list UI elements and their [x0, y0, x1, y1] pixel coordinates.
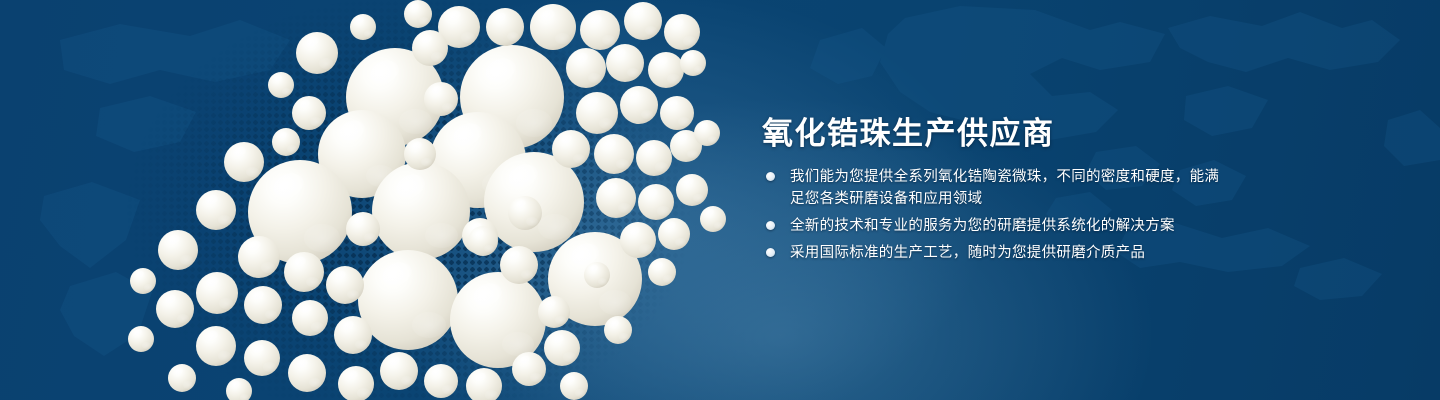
banner-copy: 氧化锆珠生产供应商 我们能为您提供全系列氧化锆陶瓷微珠，不同的密度和硬度，能满足…	[762, 0, 1322, 400]
filled-circle-bullet-icon	[766, 221, 775, 230]
page-title: 氧化锆珠生产供应商	[762, 108, 1055, 153]
list-item-label: 全新的技术和专业的服务为您的研磨提供系统化的解决方案	[790, 215, 1232, 237]
feature-list: 我们能为您提供全系列氧化锆陶瓷微珠，不同的密度和硬度，能满足您各类研磨设备和应用…	[762, 166, 1232, 269]
filled-circle-bullet-icon	[766, 172, 775, 181]
zirconia-beads-image	[0, 0, 760, 400]
list-item-label: 采用国际标准的生产工艺，随时为您提供研磨介质产品	[790, 242, 1232, 264]
hero-banner: 氧化锆珠生产供应商 我们能为您提供全系列氧化锆陶瓷微珠，不同的密度和硬度，能满足…	[0, 0, 1440, 400]
halftone-dot-pattern	[70, 0, 690, 400]
list-item-label: 我们能为您提供全系列氧化锆陶瓷微珠，不同的密度和硬度，能满足您各类研磨设备和应用…	[790, 166, 1232, 210]
filled-circle-bullet-icon	[766, 248, 775, 257]
list-item: 全新的技术和专业的服务为您的研磨提供系统化的解决方案	[762, 215, 1232, 237]
list-item: 我们能为您提供全系列氧化锆陶瓷微珠，不同的密度和硬度，能满足您各类研磨设备和应用…	[762, 166, 1232, 210]
list-item: 采用国际标准的生产工艺，随时为您提供研磨介质产品	[762, 242, 1232, 264]
